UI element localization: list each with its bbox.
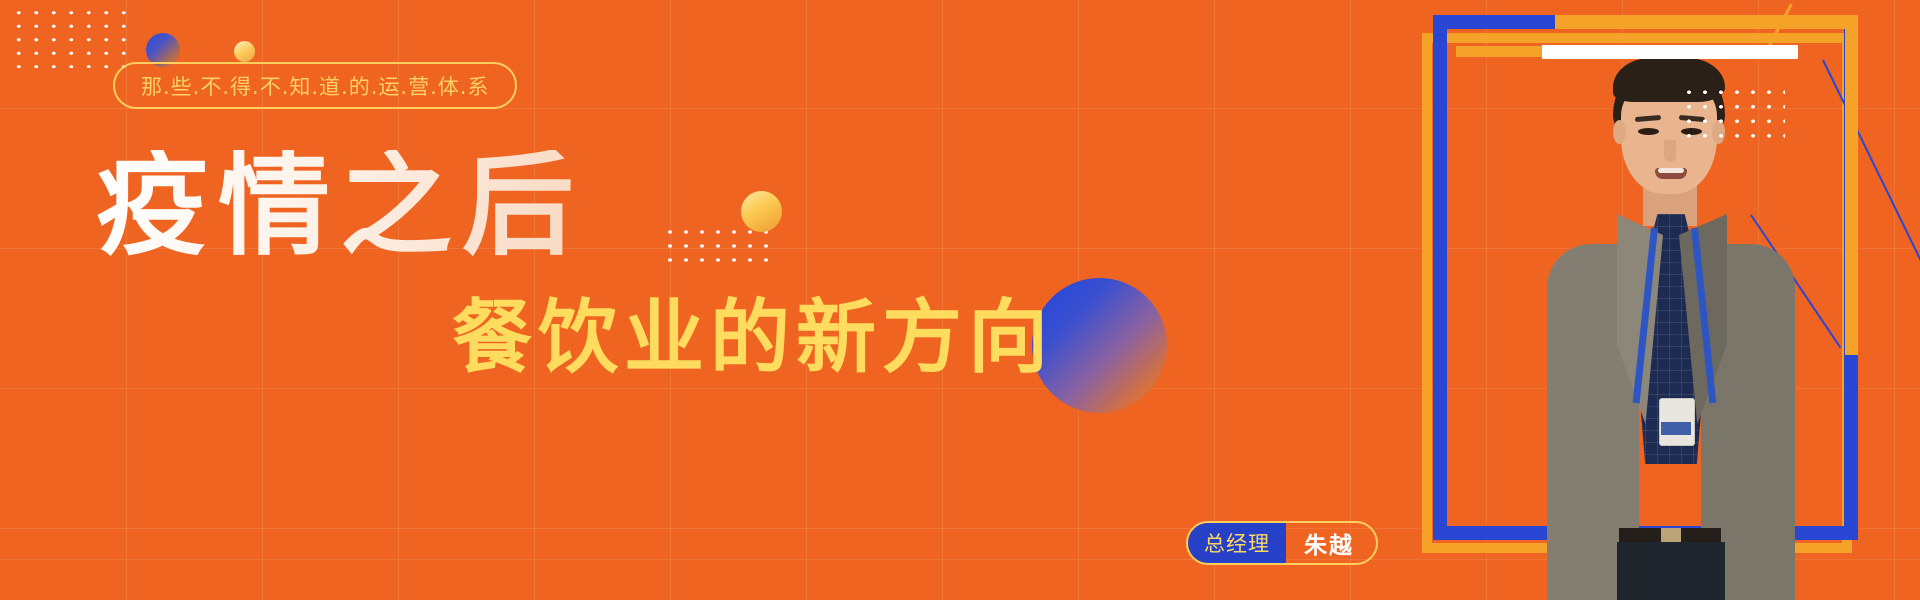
portrait-eye-left <box>1638 128 1659 135</box>
dot-pattern-icon <box>662 225 774 271</box>
portrait-ear-left <box>1613 120 1626 144</box>
portrait-teeth <box>1658 168 1684 173</box>
frame-orange-top-bar <box>1555 15 1855 29</box>
gradient-sphere-icon <box>741 191 782 232</box>
page-subtitle: 餐饮业的新方向 <box>452 298 1054 378</box>
speaker-name: 朱越 <box>1286 523 1376 563</box>
page-title: 疫情之后 <box>96 150 584 262</box>
speaker-role: 总经理 <box>1188 523 1286 563</box>
portrait-id-badge-strip <box>1661 422 1691 435</box>
subtitle-pill: 那.些.不.得.不.知.道.的.运.营.体.系 <box>113 62 517 109</box>
dot-pattern-icon <box>1681 85 1785 147</box>
frame-white-bar <box>1542 45 1798 59</box>
subtitle-text: 那.些.不.得.不.知.道.的.运.营.体.系 <box>141 71 489 101</box>
portrait-nose <box>1664 140 1676 162</box>
portrait-pants <box>1617 542 1725 600</box>
dot-pattern-icon <box>10 6 138 68</box>
gradient-sphere-icon <box>234 41 255 62</box>
speaker-badge: 总经理 朱越 <box>1186 521 1378 565</box>
speaker-photo-frame <box>1390 0 1920 600</box>
frame-orange-right-bar <box>1845 15 1858 355</box>
webinar-banner: 那.些.不.得.不.知.道.的.运.营.体.系 疫情之后 餐饮业的新方向 总经理… <box>0 0 1920 600</box>
